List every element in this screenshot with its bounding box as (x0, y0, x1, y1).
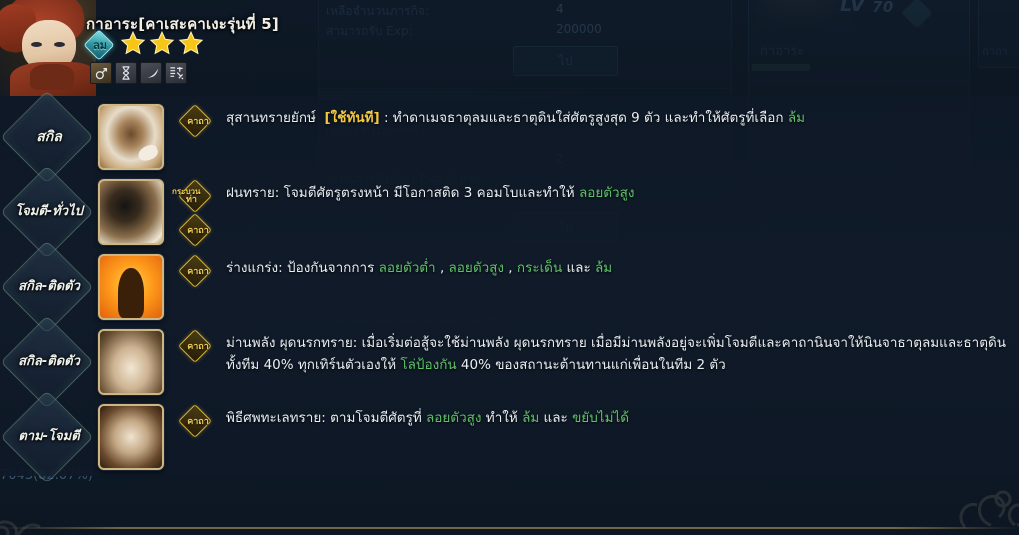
skill-icon-cell[interactable] (98, 175, 170, 245)
skill-description: สุสานทรายยักษ์ [ใช้ทันที] : ทำดาเมจธาตุล… (226, 108, 1011, 130)
skill-tag-label: คาถา (177, 106, 219, 136)
skill-category: สกิล-ติดตัว (0, 250, 98, 324)
skill-text: ตามโจมตีศัตรูที่ (330, 410, 422, 426)
skill-tag: คาถา (177, 256, 219, 286)
skill-tag: คาถา (177, 406, 219, 436)
skill-text-2: 40% ของสถานะต้านทานแก่เพื่อนในทีม 2 ตัว (461, 357, 726, 373)
skill-tag-label: คาถา (177, 331, 219, 361)
skill-effect-highlight: โล่ป้องกัน (400, 357, 456, 373)
skill-effect-highlight: ลอยตัวสูง (579, 185, 634, 201)
skill-effect-highlight: ลอยตัวต่ำ (379, 260, 436, 276)
skill-text-mid-2: และ (544, 410, 568, 426)
skill-name: ม่านพลัง ผุดนรกทราย (226, 335, 353, 351)
star-icon (120, 30, 146, 56)
skill-description-cell: สุสานทรายยักษ์ [ใช้ทันที] : ทำดาเมจธาตุล… (226, 100, 1019, 130)
sand-shield-icon[interactable] (98, 329, 164, 395)
skill-tag-cell: คาถา (170, 400, 226, 440)
element-badge-label: ลม (84, 31, 116, 58)
skill-text: ป้องกันจากการ (287, 260, 374, 276)
skill-category-label: โจมตี-ทั่วไป (15, 205, 83, 218)
skill-category: โจมตี-ทั่วไป (0, 175, 98, 249)
skill-name: พิธีศพทะเลทราย (226, 410, 321, 426)
skill-row[interactable]: โจมตี-ทั่วไป กระบวน ท่า คาถา (0, 175, 1019, 249)
skill-description-cell: ฝนทราย: โจมตีศัตรูตรงหน้า มีโอกาสติด 3 ค… (226, 175, 1019, 205)
star-icon (149, 30, 175, 56)
skill-category: ตาม-โจมตี (0, 400, 98, 474)
character-header: กาอาระ[คาเสะคาเงะรุ่นที่ 5] ลม (0, 0, 1019, 96)
skill-effect-highlight: ลอยตัวสูง (426, 410, 481, 426)
skill-tag: กระบวน ท่า (177, 181, 219, 211)
gender-male-icon[interactable] (90, 62, 112, 84)
sand-coffin-icon[interactable] (98, 404, 164, 470)
skill-tag: คาถา (177, 215, 219, 245)
skill-text: โจมตีศัตรูตรงหน้า มีโอกาสติด 3 คอมโบและท… (284, 185, 575, 201)
skill-category-label: ตาม-โจมตี (18, 430, 79, 443)
attribute-icon-row (90, 62, 187, 84)
skill-description: ฝนทราย: โจมตีศัตรูตรงหน้า มีโอกาสติด 3 ค… (226, 183, 1011, 205)
skill-name: ร่างแกร่ง (226, 260, 278, 276)
skill-category: สกิล-ติดตัว (0, 325, 98, 399)
wind-leaf-icon[interactable] (140, 62, 162, 84)
skill-description: ม่านพลัง ผุดนรกทราย: เมื่อเริ่มต่อสู้จะใ… (226, 333, 1011, 377)
skill-tag: คาถา (177, 106, 219, 136)
skill-text: ทำดาเมจธาตุลมและธาตุดินใส่ศัตรูสูงสุด 9 … (393, 110, 784, 126)
skill-connector: และ (562, 260, 595, 276)
skill-separator: : (321, 410, 326, 426)
star-rating (120, 30, 204, 56)
armored-body-icon[interactable] (98, 254, 164, 320)
skill-tag-cell: คาถา (170, 325, 226, 365)
skill-row[interactable]: สกิล คาถา สุสานทรายยักษ์ [ใช้ทันที] : ทำ… (0, 100, 1019, 174)
skills-overlay-panel: สกิล คาถา สุสานทรายยักษ์ [ใช้ทันที] : ทำ… (0, 96, 1019, 476)
skill-description-cell: ร่างแกร่ง: ป้องกันจากการ ลอยตัวต่ำ , ลอย… (226, 250, 1019, 280)
skill-tag-label: คาถา (177, 406, 219, 436)
skill-tag-label-3: คาถา (177, 215, 219, 245)
skill-category-label: สกิล-ติดตัว (18, 355, 80, 368)
skill-icon-cell[interactable] (98, 100, 170, 170)
skill-effect-highlight-2: ล้ม (522, 410, 539, 426)
skill-effect-highlight: ล้ม (788, 110, 805, 126)
skill-separator: : (275, 185, 280, 201)
skill-tag: คาถา (177, 331, 219, 361)
skill-effect-highlight: กระเด็น (517, 260, 562, 276)
element-badge: ลม (84, 31, 116, 58)
sand-swirl-dark-icon[interactable] (98, 179, 164, 245)
skill-tag-label-2: ท่า (186, 196, 197, 205)
skill-row[interactable]: ตาม-โจมตี คาถา พิธีศพทะเลทราย: ตามโจมตีศ… (0, 400, 1019, 474)
skill-tag-cell: คาถา (170, 250, 226, 290)
hourglass-icon[interactable] (115, 62, 137, 84)
skill-effect-highlight: ล้ม (595, 260, 612, 276)
skill-text-mid: ทำให้ (486, 410, 518, 426)
skill-effect-highlight: ลอยตัวสูง (449, 260, 504, 276)
skill-description-cell: ม่านพลัง ผุดนรกทราย: เมื่อเริ่มต่อสู้จะใ… (226, 325, 1019, 377)
skill-tag-label: คาถา (177, 256, 219, 286)
skill-icon-cell[interactable] (98, 325, 170, 395)
skill-instant-tag: [ใช้ทันที] (325, 110, 380, 126)
skill-effect-highlight-3: ขยับไม่ได้ (572, 410, 629, 426)
star-icon (178, 30, 204, 56)
skill-icon-cell[interactable] (98, 400, 170, 470)
skill-description: พิธีศพทะเลทราย: ตามโจมตีศัตรูที่ ลอยตัวส… (226, 408, 1011, 430)
skill-tag-cell: คาถา (170, 100, 226, 140)
skill-name: สุสานทรายยักษ์ (226, 110, 316, 126)
character-portrait (0, 0, 96, 96)
skill-row[interactable]: สกิล-ติดตัว คาถา ร่างแกร่ง: ป้องกันจากกา… (0, 250, 1019, 324)
skill-separator: : (353, 335, 358, 351)
skill-category: สกิล (0, 100, 98, 174)
skill-separator: : (384, 110, 389, 126)
shadow-kanji-icon[interactable] (165, 62, 187, 84)
footer-gold-line (0, 527, 1019, 529)
skill-icon-cell[interactable] (98, 250, 170, 320)
skill-name: ฝนทราย (226, 185, 275, 201)
skill-category-label: สกิล (36, 130, 62, 144)
skill-connector: , (504, 260, 517, 276)
skill-description-cell: พิธีศพทะเลทราย: ตามโจมตีศัตรูที่ ลอยตัวส… (226, 400, 1019, 430)
skill-tag-cell: กระบวน ท่า คาถา (170, 175, 226, 249)
skill-row[interactable]: สกิล-ติดตัว คาถา ม่านพลัง ผุดนรกทราย: เม… (0, 325, 1019, 399)
game-skill-overlay-screen: เหลือจำนวนภารกิจ: 4 สามารถรับ Exp: 20000… (0, 0, 1019, 535)
skill-category-label: สกิล-ติดตัว (18, 280, 80, 293)
skill-description: ร่างแกร่ง: ป้องกันจากการ ลอยตัวต่ำ , ลอย… (226, 258, 1011, 280)
sand-vortex-icon[interactable] (98, 104, 164, 170)
skill-connector: , (436, 260, 449, 276)
skill-separator: : (278, 260, 283, 276)
